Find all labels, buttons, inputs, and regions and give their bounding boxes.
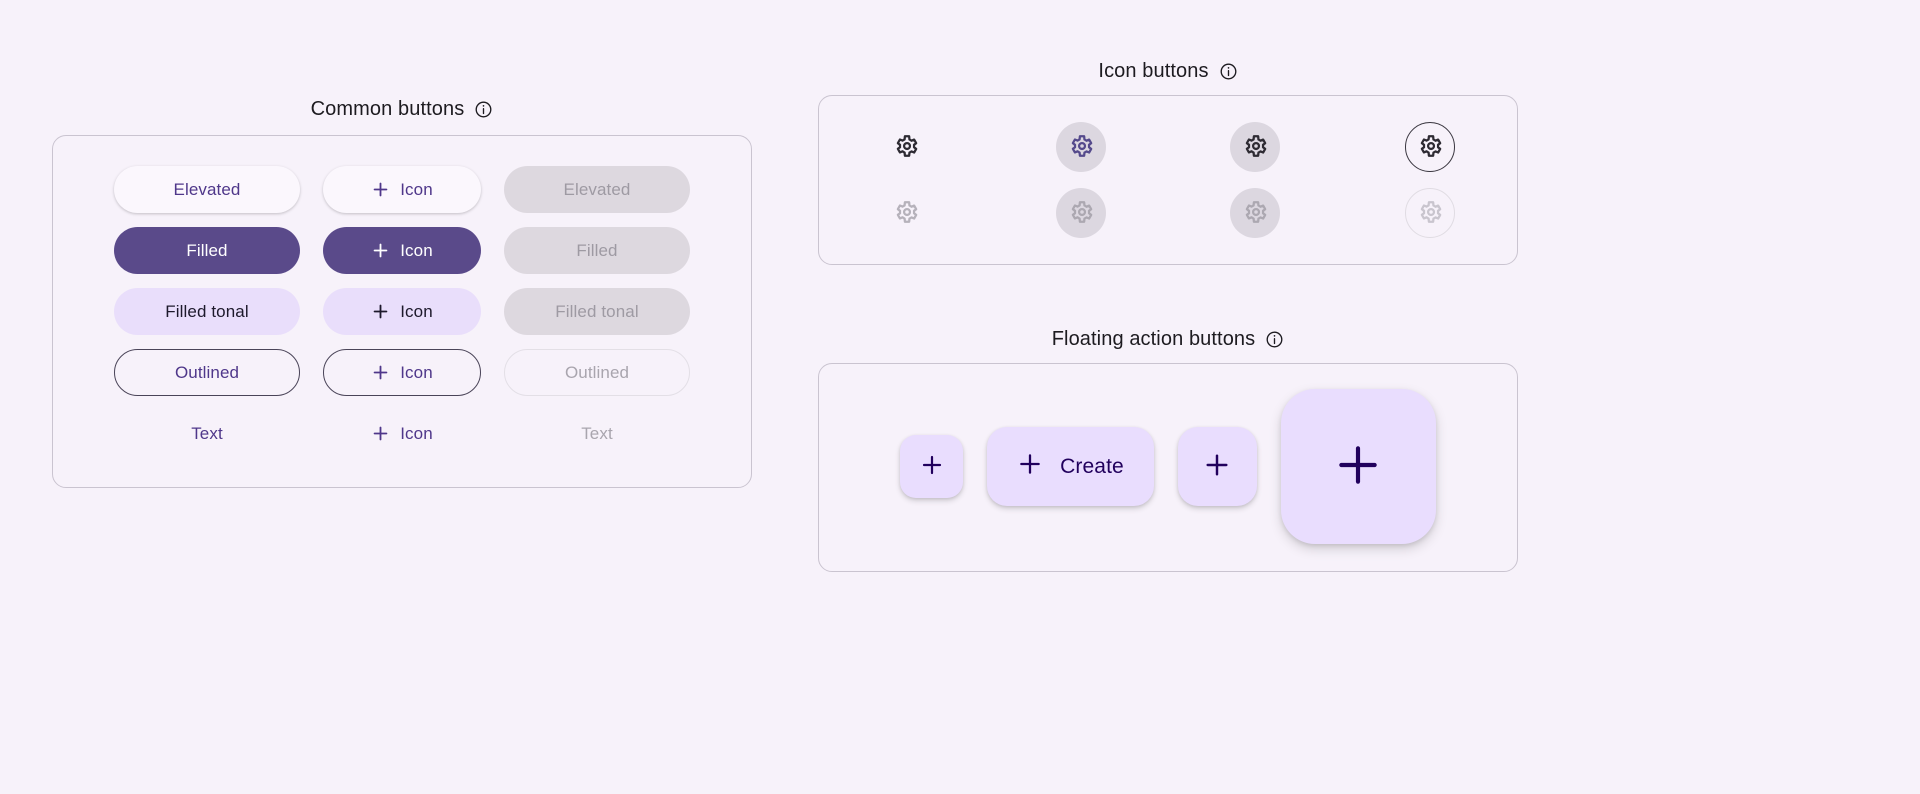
filled-button-label: Filled xyxy=(186,241,227,261)
gear-icon xyxy=(1068,133,1094,162)
icon-button-standard-disabled xyxy=(881,188,931,238)
fab-row: Create xyxy=(819,389,1517,544)
elevated-icon-button-label: Icon xyxy=(400,180,433,200)
text-icon-button[interactable]: Icon xyxy=(323,410,481,457)
gear-icon xyxy=(893,133,919,162)
icon-buttons-card xyxy=(818,95,1518,265)
outlined-icon-button[interactable]: Icon xyxy=(323,349,481,396)
icon-buttons-title-label: Icon buttons xyxy=(1098,60,1208,83)
info-icon[interactable] xyxy=(1265,330,1284,349)
fab-extended-label: Create xyxy=(1060,455,1124,479)
elevated-button-label: Elevated xyxy=(174,180,241,200)
outlined-button-disabled: Outlined xyxy=(504,349,690,396)
fab-large[interactable] xyxy=(1281,389,1436,544)
filled-tonal-button-disabled-label: Filled tonal xyxy=(555,302,638,322)
outlined-icon-button-label: Icon xyxy=(400,363,433,383)
plus-icon xyxy=(371,363,390,382)
fab-small[interactable] xyxy=(900,435,963,498)
icon-button-outlined-disabled xyxy=(1405,188,1455,238)
fab-section: Floating action buttons xyxy=(818,328,1518,572)
icon-button-standard[interactable] xyxy=(881,122,931,172)
common-buttons-title-label: Common buttons xyxy=(311,98,465,121)
gear-icon xyxy=(893,199,919,228)
icon-button-filled-disabled xyxy=(1056,188,1106,238)
text-button-label: Text xyxy=(191,424,223,444)
text-button-disabled-label: Text xyxy=(581,424,613,444)
icon-buttons-grid xyxy=(819,122,1517,238)
common-buttons-section: Common buttons Elevated I xyxy=(52,98,752,488)
gear-icon xyxy=(1242,199,1268,228)
filled-button[interactable]: Filled xyxy=(114,227,300,274)
gear-icon xyxy=(1242,133,1268,162)
filled-tonal-button-disabled: Filled tonal xyxy=(504,288,690,335)
info-icon[interactable] xyxy=(474,100,493,119)
plus-icon xyxy=(371,302,390,321)
fab-card: Create xyxy=(818,363,1518,572)
gear-icon xyxy=(1068,199,1094,228)
elevated-icon-button[interactable]: Icon xyxy=(323,166,481,213)
outlined-button-label: Outlined xyxy=(175,363,239,383)
gear-icon xyxy=(1417,133,1443,162)
filled-tonal-icon-button-label: Icon xyxy=(400,302,433,322)
plus-icon xyxy=(371,241,390,260)
fab-extended-create[interactable]: Create xyxy=(987,427,1154,506)
filled-icon-button-label: Icon xyxy=(400,241,433,261)
fab-title: Floating action buttons xyxy=(818,328,1518,351)
info-icon[interactable] xyxy=(1219,62,1238,81)
outlined-button-disabled-label: Outlined xyxy=(565,363,629,383)
plus-icon xyxy=(920,453,944,480)
filled-tonal-icon-button[interactable]: Icon xyxy=(323,288,481,335)
elevated-button[interactable]: Elevated xyxy=(114,166,300,213)
fab-title-label: Floating action buttons xyxy=(1052,328,1256,351)
filled-icon-button[interactable]: Icon xyxy=(323,227,481,274)
plus-icon xyxy=(1203,451,1231,482)
text-button[interactable]: Text xyxy=(114,410,300,457)
icon-buttons-section: Icon buttons xyxy=(818,60,1518,265)
icon-button-outlined[interactable] xyxy=(1405,122,1455,172)
filled-button-disabled-label: Filled xyxy=(576,241,617,261)
button-showcase-canvas: Common buttons Elevated I xyxy=(0,0,1920,794)
gear-icon xyxy=(1417,199,1443,228)
text-button-disabled: Text xyxy=(504,410,690,457)
icon-buttons-title: Icon buttons xyxy=(818,60,1518,83)
icon-button-filled[interactable] xyxy=(1056,122,1106,172)
fab-regular[interactable] xyxy=(1178,427,1257,506)
outlined-button[interactable]: Outlined xyxy=(114,349,300,396)
icon-button-tonal-disabled xyxy=(1230,188,1280,238)
text-icon-button-label: Icon xyxy=(400,424,433,444)
plus-icon xyxy=(1017,451,1043,483)
common-buttons-title: Common buttons xyxy=(52,98,752,121)
plus-icon xyxy=(1333,440,1383,493)
icon-button-tonal[interactable] xyxy=(1230,122,1280,172)
elevated-button-disabled: Elevated xyxy=(504,166,690,213)
plus-icon xyxy=(371,424,390,443)
filled-button-disabled: Filled xyxy=(504,227,690,274)
filled-tonal-button-label: Filled tonal xyxy=(165,302,248,322)
common-buttons-card: Elevated Icon Elevated Filled xyxy=(52,135,752,488)
plus-icon xyxy=(371,180,390,199)
common-buttons-grid: Elevated Icon Elevated Filled xyxy=(105,166,699,457)
filled-tonal-button[interactable]: Filled tonal xyxy=(114,288,300,335)
elevated-button-disabled-label: Elevated xyxy=(564,180,631,200)
